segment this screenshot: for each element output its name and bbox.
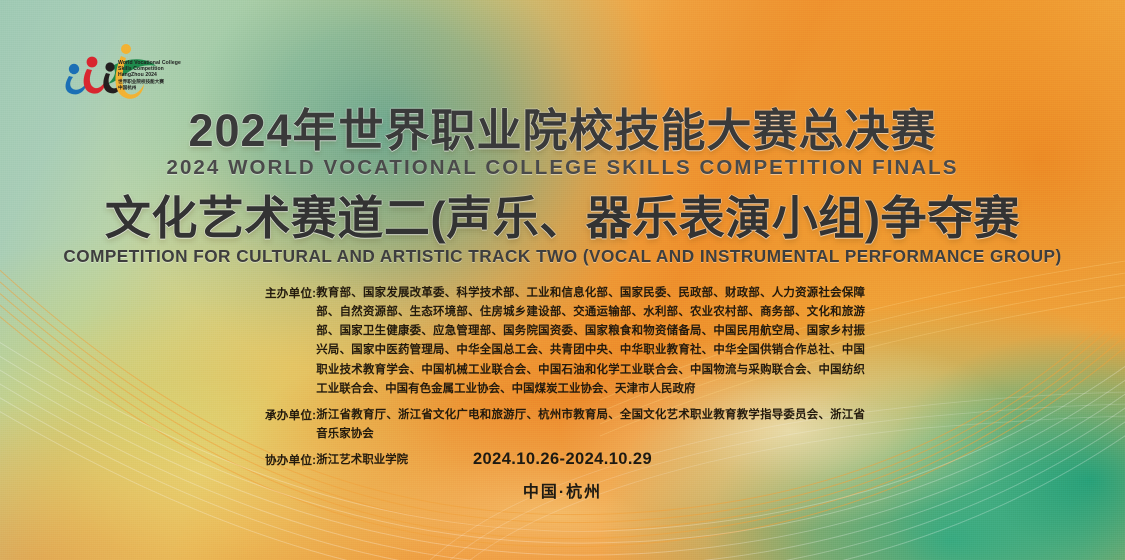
sub-title-cn: 文化艺术赛道二(声乐、器乐表演小组)争夺赛 <box>0 194 1125 243</box>
organizer-row-host: 主办单位: 教育部、国家发展改革委、科学技术部、工业和信息化部、国家民委、民政部… <box>265 284 865 399</box>
organizer-label: 承办单位: <box>265 406 316 425</box>
organizer-body: 浙江省教育厅、浙江省文化广电和旅游厅、杭州市教育局、全国文化艺术职业教育教学指导… <box>316 406 865 444</box>
logo-line-5: 中国杭州 <box>118 85 181 91</box>
event-location: 中国·杭州 <box>0 478 1125 502</box>
title-block: 2024年世界职业院校技能大赛总决赛 2024 WORLD VOCATIONAL… <box>0 108 1125 267</box>
event-date-range: 2024.10.26-2024.10.29 <box>0 450 1125 469</box>
competition-logo: World Vocational College Skills Competit… <box>60 40 210 110</box>
organizer-row-undertaker: 承办单位: 浙江省教育厅、浙江省文化广电和旅游厅、杭州市教育局、全国文化艺术职业… <box>265 406 865 444</box>
event-banner: World Vocational College Skills Competit… <box>0 0 1125 560</box>
organizer-body: 教育部、国家发展改革委、科学技术部、工业和信息化部、国家民委、民政部、财政部、人… <box>316 284 865 399</box>
organizer-label: 主办单位: <box>265 284 316 303</box>
logo-line-4: 世界职业院校技能大赛 <box>118 79 181 85</box>
footer-block: 2024.10.26-2024.10.29 中国·杭州 <box>0 450 1125 502</box>
logo-line-3: HangZhou 2024 <box>118 72 181 78</box>
sub-title-en: COMPETITION FOR CULTURAL AND ARTISTIC TR… <box>0 246 1125 267</box>
main-title-cn: 2024年世界职业院校技能大赛总决赛 <box>0 108 1125 155</box>
organizer-block: 主办单位: 教育部、国家发展改革委、科学技术部、工业和信息化部、国家民委、民政部… <box>265 284 865 472</box>
logo-wordmark: World Vocational College Skills Competit… <box>118 60 181 91</box>
main-title-en: 2024 WORLD VOCATIONAL COLLEGE SKILLS COM… <box>0 156 1125 180</box>
